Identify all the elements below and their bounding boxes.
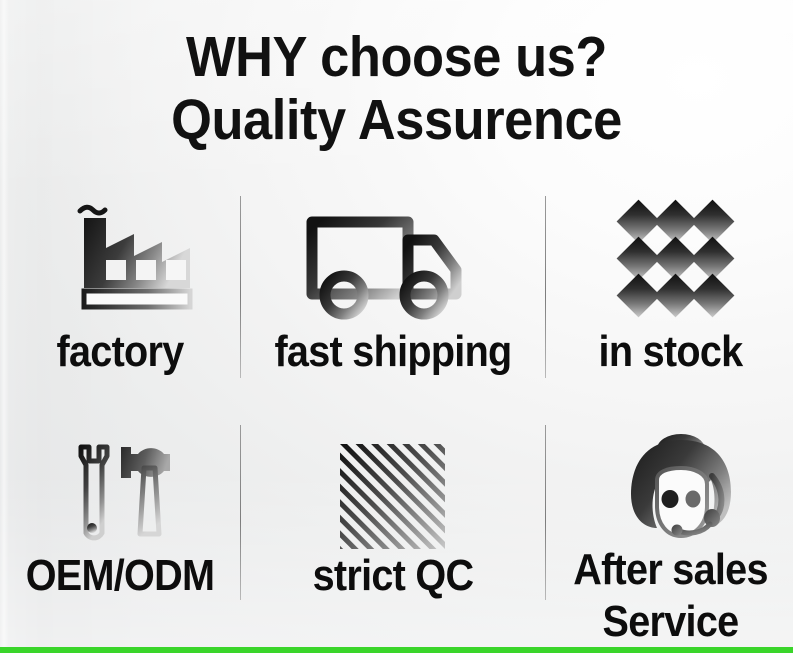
wrench-hammer-icon-wrap xyxy=(65,438,180,550)
title-line-1: WHY choose us? xyxy=(32,26,762,89)
delivery-truck-icon xyxy=(300,200,490,325)
page-title: WHY choose us? Quality Assurence xyxy=(0,26,793,152)
headset-agent-icon xyxy=(611,432,751,554)
divider-row2-right xyxy=(545,425,546,600)
headset-agent-icon-wrap xyxy=(611,432,751,554)
diamond-grid-icon xyxy=(615,196,745,321)
feature-label-factory: factory xyxy=(12,326,228,378)
feature-label-strict-qc: strict QC xyxy=(258,550,528,602)
title-line-2: Quality Assurence xyxy=(32,89,762,152)
divider-row1-right xyxy=(545,196,546,378)
delivery-truck-icon-wrap xyxy=(300,200,490,325)
feature-label-oem-odm: OEM/ODM xyxy=(12,550,228,602)
feature-label-fast-shipping: fast shipping xyxy=(258,326,528,378)
bottom-accent-bar xyxy=(0,647,793,653)
feature-label-in-stock: in stock xyxy=(560,326,781,378)
divider-row2-left xyxy=(240,425,241,600)
hatched-square-icon-wrap xyxy=(340,444,445,549)
wrench-hammer-icon xyxy=(65,438,180,550)
factory-icon xyxy=(62,196,222,321)
divider-row1-left xyxy=(240,196,241,378)
diamond-grid-icon-wrap xyxy=(615,196,745,321)
feature-label-after-sales-line2: Service xyxy=(560,596,781,648)
feature-label-after-sales: After sales xyxy=(560,544,781,596)
factory-icon-wrap xyxy=(62,196,222,321)
hatched-square-icon xyxy=(340,444,445,549)
why-choose-us-banner: WHY choose us? Quality Assurence xyxy=(0,0,793,653)
